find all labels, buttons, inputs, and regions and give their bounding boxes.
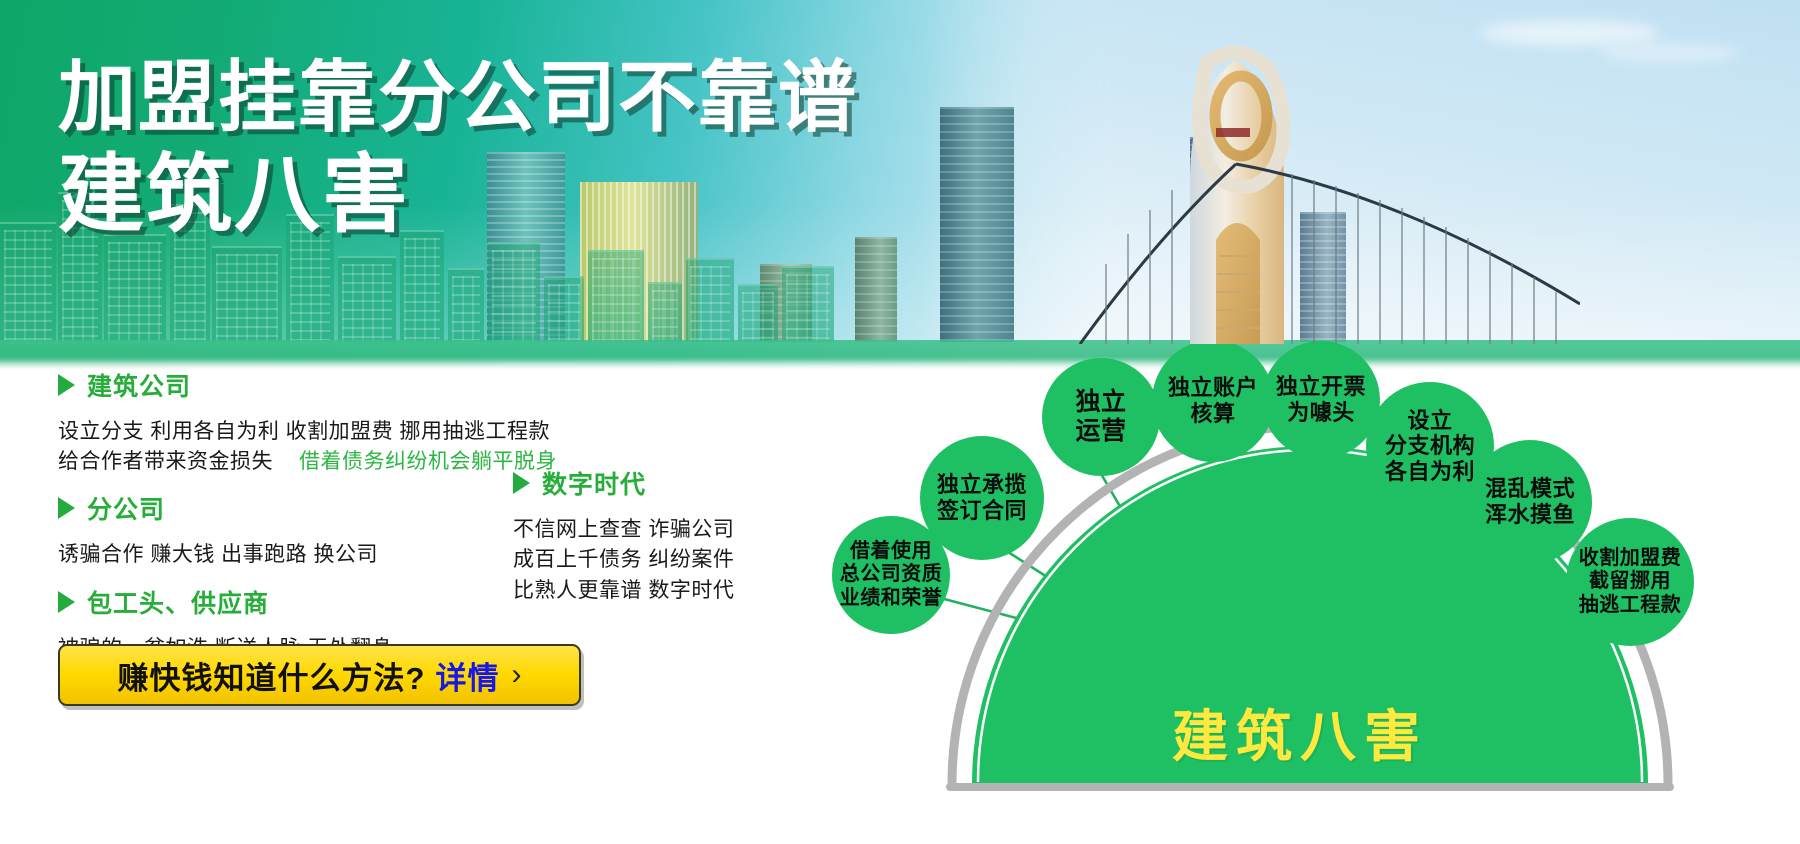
- section-line-row: 给合作者带来资金损失 借着债务纠纷机会躺平脱身: [58, 447, 557, 477]
- dome-center-label: 建筑八害: [800, 692, 1800, 773]
- bubble-line: 签订合同: [937, 498, 1027, 524]
- section-header: 建筑公司: [58, 367, 557, 403]
- bubble-4[interactable]: 独立账户 核算: [1152, 340, 1274, 462]
- bubble-line: 独立承揽: [937, 472, 1027, 498]
- chevron-right-icon: ›: [511, 658, 521, 692]
- section-body: 设立分支 利用各自为利 收割加盟费 挪用抽逃工程款 给合作者带来资金损失 借着债…: [58, 417, 557, 478]
- section-header: 包工头、供应商: [58, 584, 393, 620]
- section-title: 建筑公司: [87, 367, 191, 403]
- bubble-line: 截留挪用: [1589, 570, 1671, 593]
- triangle-bullet-icon: [58, 497, 75, 519]
- poster-root: 加盟挂靠分公司不靠谱 建筑八害 建筑公司 设立分支 利用各自为利 收割加盟费 挪…: [0, 0, 1800, 844]
- bubble-line: 总公司资质: [840, 563, 943, 586]
- section-digital-age: 数字时代 不信网上查查 诈骗公司 成百上千债务 纠纷案件 比熟人更靠谱 数字时代: [513, 465, 734, 606]
- cloud-icon: [1600, 44, 1740, 62]
- hero-title-line1: 加盟挂靠分公司不靠谱: [58, 58, 858, 138]
- section-title: 包工头、供应商: [87, 584, 269, 620]
- bubble-line: 借着使用: [850, 540, 932, 563]
- cloud-icon: [1480, 20, 1660, 46]
- section-branch-company: 分公司 诱骗合作 赚大钱 出事跑路 换公司: [58, 490, 378, 570]
- section-line: 设立分支 利用各自为利 收割加盟费 挪用抽逃工程款: [58, 417, 557, 447]
- section-header: 分公司: [58, 490, 378, 526]
- triangle-bullet-icon: [58, 591, 75, 613]
- section-title: 数字时代: [542, 465, 646, 501]
- bubble-7[interactable]: 混乱模式 浑水摸鱼: [1468, 440, 1592, 564]
- cta-question-label: 赚快钱知道什么方法?: [118, 653, 426, 698]
- bubble-8[interactable]: 收割加盟费 截留挪用 抽逃工程款: [1566, 518, 1694, 646]
- bubble-line: 分支机构: [1385, 433, 1475, 459]
- bubble-line: 抽逃工程款: [1579, 594, 1682, 617]
- bubble-line: 独立账户: [1168, 375, 1258, 401]
- bubble-line: 独立开票: [1276, 374, 1366, 400]
- section-line: 成百上千债务 纠纷案件: [513, 545, 734, 575]
- triangle-bullet-icon: [58, 374, 75, 396]
- bubble-line: 混乱模式: [1485, 476, 1575, 502]
- section-body: 不信网上查查 诈骗公司 成百上千债务 纠纷案件 比熟人更靠谱 数字时代: [513, 515, 734, 606]
- section-line: 诱骗合作 赚大钱 出事跑路 换公司: [58, 540, 378, 570]
- bubble-line: 浑水摸鱼: [1485, 502, 1575, 528]
- bubble-line: 设立: [1407, 408, 1452, 434]
- cta-detail-link[interactable]: 详情: [435, 653, 499, 698]
- section-body: 诱骗合作 赚大钱 出事跑路 换公司: [58, 540, 378, 570]
- section-line: 比熟人更靠谱 数字时代: [513, 576, 734, 606]
- bubble-line: 业绩和荣誉: [840, 587, 943, 610]
- bubble-line: 各自为利: [1385, 459, 1475, 485]
- section-title: 分公司: [87, 490, 165, 526]
- cta-button[interactable]: 赚快钱知道什么方法? 详情 ›: [58, 644, 581, 706]
- hero-title-group: 加盟挂靠分公司不靠谱 建筑八害: [58, 58, 858, 239]
- bubble-line: 独立: [1075, 388, 1126, 417]
- triangle-bullet-icon: [513, 472, 530, 494]
- section-header: 数字时代: [513, 465, 734, 501]
- bubble-3[interactable]: 独立 运营: [1042, 358, 1160, 476]
- bubble-2[interactable]: 独立承揽 签订合同: [920, 436, 1044, 560]
- bubble-line: 运营: [1075, 417, 1126, 446]
- content-left-column: 建筑公司 设立分支 利用各自为利 收割加盟费 挪用抽逃工程款 给合作者带来资金损…: [0, 372, 820, 844]
- bubble-diagram: 建筑八害 借着使用 总公司资质 业绩和荣誉 独立承揽 签订合同 独立 运营 独立…: [800, 340, 1800, 844]
- section-line: 不信网上查查 诈骗公司: [513, 515, 734, 545]
- bubble-line: 收割加盟费: [1579, 547, 1682, 570]
- bubble-line: 核算: [1190, 401, 1235, 427]
- bridge-illustration: [1040, 44, 1580, 344]
- bubble-line: 为噱头: [1287, 400, 1355, 426]
- section-construction-company: 建筑公司 设立分支 利用各自为利 收割加盟费 挪用抽逃工程款 给合作者带来资金损…: [58, 367, 557, 478]
- hero-title-line2: 建筑八害: [58, 152, 858, 240]
- hero-banner: 加盟挂靠分公司不靠谱 建筑八害: [0, 0, 1800, 370]
- bubble-5[interactable]: 独立开票 为噱头: [1262, 341, 1380, 459]
- section-line: 给合作者带来资金损失: [58, 447, 273, 477]
